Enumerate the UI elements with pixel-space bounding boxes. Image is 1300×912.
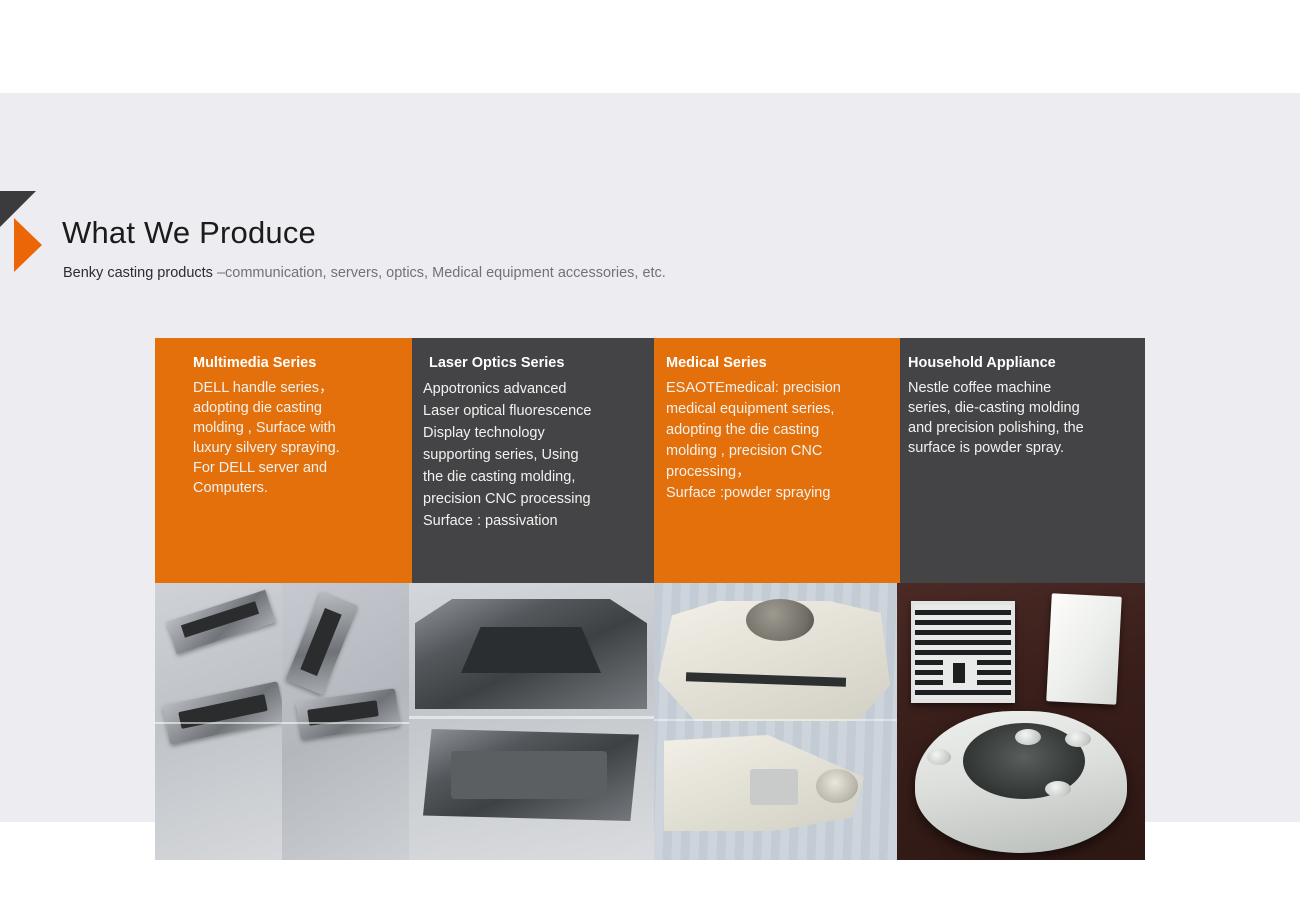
card-title: Medical Series — [666, 354, 883, 372]
subtitle-rest: –communication, servers, optics, Medical… — [217, 265, 666, 281]
card-photo-household — [897, 583, 1145, 860]
slide-canvas: What We Produce Benky casting products –… — [0, 93, 1300, 822]
card-body: DELL handle series， adopting die casting… — [193, 378, 395, 498]
card-text-multimedia: Multimedia Series DELL handle series， ad… — [155, 338, 409, 583]
page-subtitle: Benky casting products –communication, s… — [63, 265, 666, 281]
card-title: Laser Optics Series — [423, 354, 640, 372]
page-title: What We Produce — [62, 215, 316, 251]
product-card-grid: Multimedia Series DELL handle series， ad… — [155, 338, 1145, 860]
card-text-laser-optics: Laser Optics Series Appotronics advanced… — [409, 338, 654, 583]
photo-dell-handles-left — [155, 583, 282, 860]
subtitle-lead: Benky casting products — [63, 265, 217, 281]
card-accent-edge — [897, 338, 900, 583]
card-body: ESAOTEmedical: precision medical equipme… — [666, 378, 883, 504]
logo-orange-triangle-icon — [14, 218, 42, 272]
logo-mark — [0, 189, 52, 279]
product-card-laser-optics[interactable]: Laser Optics Series Appotronics advanced… — [409, 338, 654, 860]
card-photo-medical — [654, 583, 897, 860]
card-title: Multimedia Series — [193, 354, 395, 372]
card-text-medical: Medical Series ESAOTEmedical: precision … — [654, 338, 897, 583]
photo-dell-handles-right — [282, 583, 409, 860]
card-accent-edge — [409, 338, 412, 583]
card-photo-multimedia — [155, 583, 409, 860]
product-card-multimedia[interactable]: Multimedia Series DELL handle series， ad… — [155, 338, 409, 860]
card-text-household: Household Appliance Nestle coffee machin… — [897, 338, 1145, 583]
card-title: Household Appliance — [908, 354, 1131, 372]
product-card-medical[interactable]: Medical Series ESAOTEmedical: precision … — [654, 338, 897, 860]
product-card-household-appliance[interactable]: Household Appliance Nestle coffee machin… — [897, 338, 1145, 860]
card-body: Appotronics advanced Laser optical fluor… — [423, 378, 640, 532]
card-photo-laser-optics — [409, 583, 654, 860]
card-body: Nestle coffee machine series, die-castin… — [908, 378, 1131, 458]
